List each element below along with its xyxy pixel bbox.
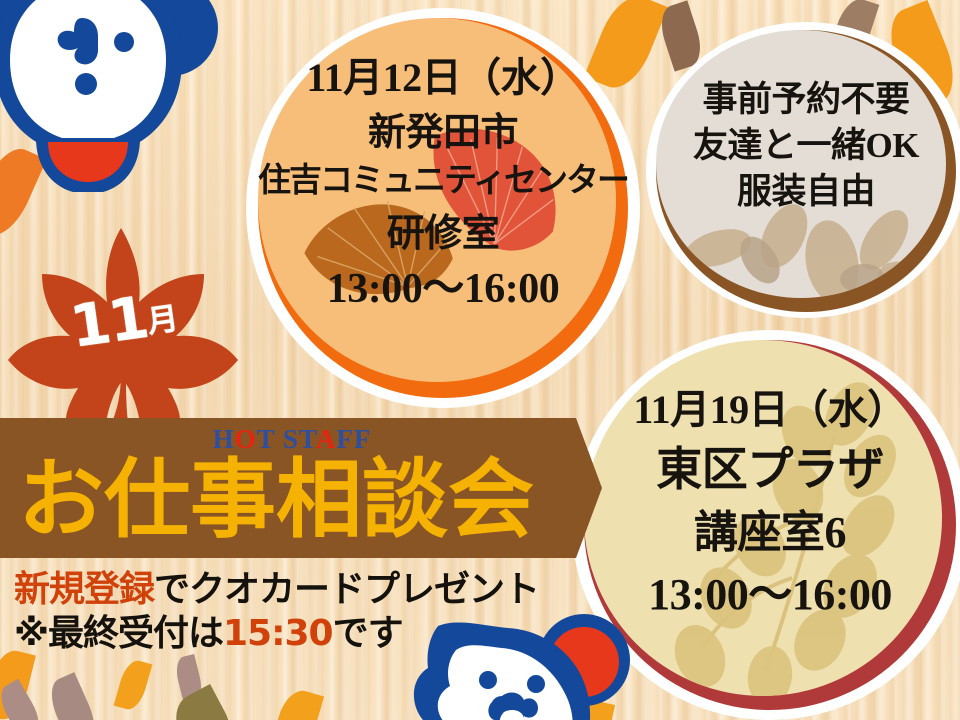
event-1-city: 新発田市	[246, 112, 640, 155]
title-banner: HOT STAFF お仕事相談会	[0, 418, 576, 558]
footer-last-reception-time: 15:30	[223, 613, 333, 654]
poster-canvas: 11月12日（水） 新発田市 住吉コミュニティセンター 研修室 13:00〜16…	[0, 0, 960, 720]
footer-line-2-suffix: です	[333, 613, 403, 654]
poster-main-title: お仕事相談会	[0, 452, 556, 548]
event-1-time: 13:00〜16:00	[246, 266, 640, 313]
footer-line-2-prefix: ※最終受付は	[14, 613, 223, 654]
decor-leaf-icon	[166, 684, 240, 720]
notes-line-2: 友達と一緒OK	[646, 126, 960, 165]
notes-circle: 事前予約不要 友達と一緒OK 服装自由	[646, 22, 960, 318]
footer-line-2: ※最終受付は15:30です	[14, 604, 403, 656]
decor-leaf-icon	[270, 686, 324, 720]
decor-leaf-icon	[43, 672, 103, 720]
event-1-room: 研修室	[246, 213, 640, 256]
bear-mascot-bottom	[404, 604, 634, 720]
event-2-room: 講座室6	[572, 508, 960, 557]
event-1-venue: 住吉コミュニティセンター	[246, 163, 640, 200]
month-unit: 月	[145, 301, 179, 341]
event-2-date: 11月19日（水）	[572, 388, 960, 433]
month-badge: 11月	[8, 222, 238, 422]
notes-line-1: 事前予約不要	[646, 80, 960, 119]
event-2-venue: 東区プラザ	[572, 444, 960, 496]
bear-mascot-top-left	[0, 0, 244, 192]
month-number: 11	[66, 283, 151, 361]
event-1-date: 11月12日（水）	[246, 56, 640, 101]
notes-line-3: 服装自由	[646, 172, 960, 211]
decor-leaf-icon	[114, 657, 153, 712]
